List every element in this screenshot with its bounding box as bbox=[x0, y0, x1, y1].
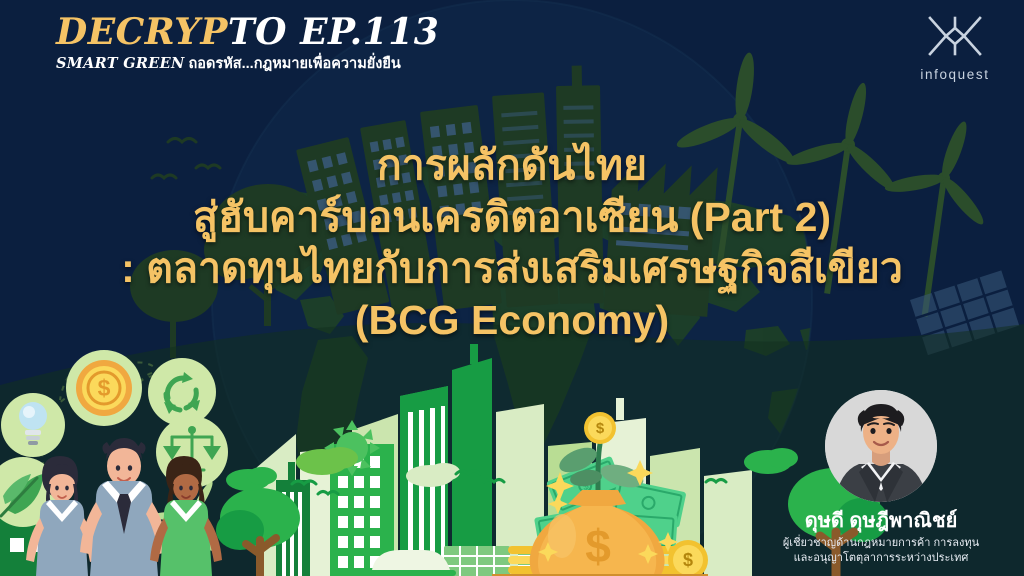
three-people-illustration bbox=[26, 438, 222, 576]
slide-canvas: $ bbox=[0, 0, 1024, 576]
speaker-role-line-2: และอนุญาโตตุลาการระหว่างประเทศ bbox=[756, 551, 1006, 566]
speaker-role-line-1: ผู้เชี่ยวชาญด้านกฎหมายการค้า การลงทุน bbox=[756, 536, 1006, 551]
recycle-arrows-icon bbox=[148, 358, 216, 426]
show-subtitle-th: ถอดรหัส...กฎหมายเพื่อความยั่งยืน bbox=[185, 56, 401, 72]
speaker-role: ผู้เชี่ยวชาญด้านกฎหมายการค้า การลงทุน แล… bbox=[756, 536, 1006, 566]
show-title-white: TO EP.113 bbox=[228, 11, 439, 53]
show-header: DECRYPTO EP.113 SMART GREEN ถอดรหัส...กฎ… bbox=[56, 14, 439, 73]
svg-text:$: $ bbox=[98, 375, 111, 401]
speaker-portrait-avatar bbox=[825, 390, 937, 502]
lightbulb-icon bbox=[1, 393, 65, 457]
brand-logo: infoquest bbox=[912, 14, 998, 82]
show-title: DECRYPTO EP.113 bbox=[56, 14, 439, 52]
show-subtitle: SMART GREEN ถอดรหัส...กฎหมายเพื่อความยั่… bbox=[56, 55, 439, 73]
page-title: การผลักดันไทย สู่ฮับคาร์บอนเครดิตอาเซียน… bbox=[0, 140, 1024, 347]
brand-name: infoquest bbox=[912, 67, 998, 82]
avatar bbox=[825, 390, 937, 502]
dollar-coin-icon: $ bbox=[66, 350, 142, 426]
speaker-card: ดุษดี ดุษฎีพาณิชย์ ผู้เชี่ยวชาญด้านกฎหมา… bbox=[756, 390, 1006, 566]
show-subtitle-en: SMART GREEN bbox=[56, 55, 185, 72]
page-title-line-4: (BCG Economy) bbox=[0, 295, 1024, 347]
show-title-gold: DECRYP bbox=[56, 11, 228, 53]
speaker-name: ดุษดี ดุษฎีพาณิชย์ bbox=[756, 510, 1006, 533]
page-title-line-3: : ตลาดทุนไทยกับการส่งเสริมเศรษฐกิจสีเขีย… bbox=[0, 243, 1024, 295]
infoquest-x-logo-icon bbox=[912, 14, 998, 58]
page-title-line-2: สู่ฮับคาร์บอนเครดิตอาเซียน (Part 2) bbox=[0, 192, 1024, 244]
page-title-line-1: การผลักดันไทย bbox=[0, 140, 1024, 192]
